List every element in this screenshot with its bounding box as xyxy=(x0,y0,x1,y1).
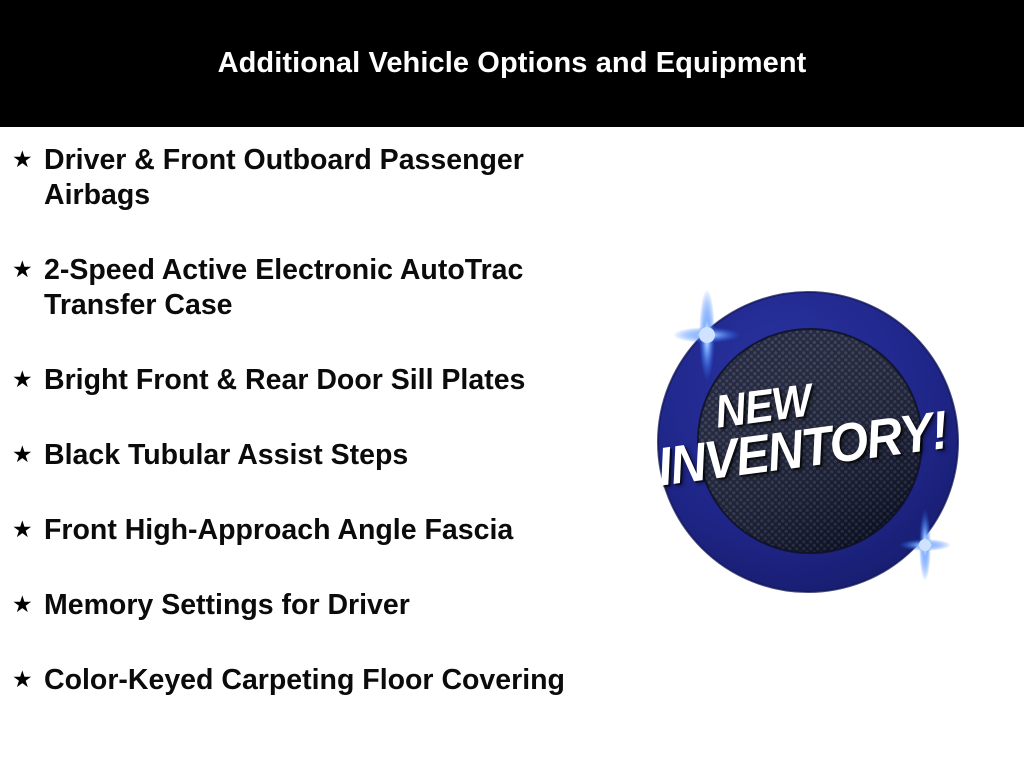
vehicle-options-list: ★ Driver & Front Outboard Passenger Airb… xyxy=(12,143,612,698)
list-item: ★ Color-Keyed Carpeting Floor Covering xyxy=(12,663,612,698)
list-item-label: Bright Front & Rear Door Sill Plates xyxy=(44,363,574,398)
badge-graphic-icon xyxy=(648,281,968,603)
list-item: ★ Bright Front & Rear Door Sill Plates xyxy=(12,363,612,398)
star-bullet-icon: ★ xyxy=(12,253,44,288)
list-item-label: Color-Keyed Carpeting Floor Covering xyxy=(44,663,574,698)
page-title: Additional Vehicle Options and Equipment xyxy=(0,0,1024,127)
list-item-label: Front High-Approach Angle Fascia xyxy=(44,513,574,548)
list-item: ★ Driver & Front Outboard Passenger Airb… xyxy=(12,143,612,213)
new-inventory-badge: NEW INVENTORY! xyxy=(648,281,968,603)
list-item-label: Driver & Front Outboard Passenger Airbag… xyxy=(44,143,574,213)
star-bullet-icon: ★ xyxy=(12,143,44,178)
list-item: ★ Front High-Approach Angle Fascia xyxy=(12,513,612,548)
star-bullet-icon: ★ xyxy=(12,663,44,698)
list-item: ★ 2-Speed Active Electronic AutoTrac Tra… xyxy=(12,253,612,323)
list-item-label: Black Tubular Assist Steps xyxy=(44,438,574,473)
star-bullet-icon: ★ xyxy=(12,363,44,398)
list-item: ★ Black Tubular Assist Steps xyxy=(12,438,612,473)
list-item: ★ Memory Settings for Driver xyxy=(12,588,612,623)
star-bullet-icon: ★ xyxy=(12,588,44,623)
title-bar: Additional Vehicle Options and Equipment xyxy=(0,0,1024,127)
list-item-label: Memory Settings for Driver xyxy=(44,588,574,623)
list-item-label: 2-Speed Active Electronic AutoTrac Trans… xyxy=(44,253,574,323)
star-bullet-icon: ★ xyxy=(12,438,44,473)
star-bullet-icon: ★ xyxy=(12,513,44,548)
